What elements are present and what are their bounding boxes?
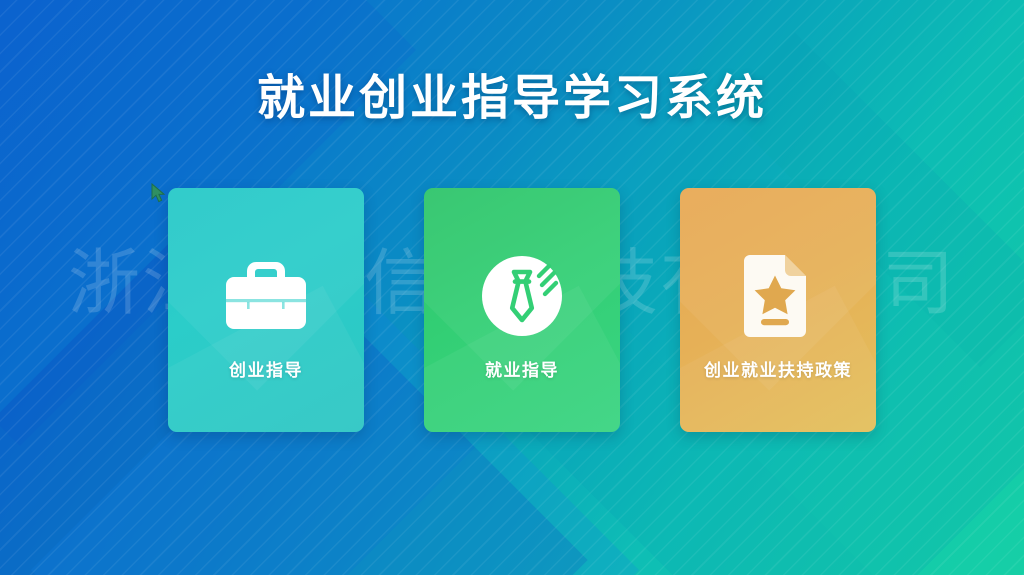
card-entrepreneurship-guidance[interactable]: 创业指导: [168, 188, 364, 432]
necktie-circle-icon: [424, 248, 620, 344]
card-label: 就业指导: [424, 356, 620, 381]
card-label: 创业指导: [168, 356, 364, 381]
page-title: 就业创业指导学习系统: [0, 58, 1024, 128]
briefcase-icon: [168, 248, 364, 344]
card-employment-guidance[interactable]: 就业指导: [424, 188, 620, 432]
card-label: 创业就业扶持政策: [680, 356, 876, 381]
card-support-policy[interactable]: 创业就业扶持政策: [680, 188, 876, 432]
module-card-list: 创业指导 就业指导: [168, 188, 876, 432]
app-background: 浙江码马信息科技有限公司 就业创业指导学习系统 创业指导: [0, 0, 1024, 575]
document-star-icon: [680, 248, 876, 344]
